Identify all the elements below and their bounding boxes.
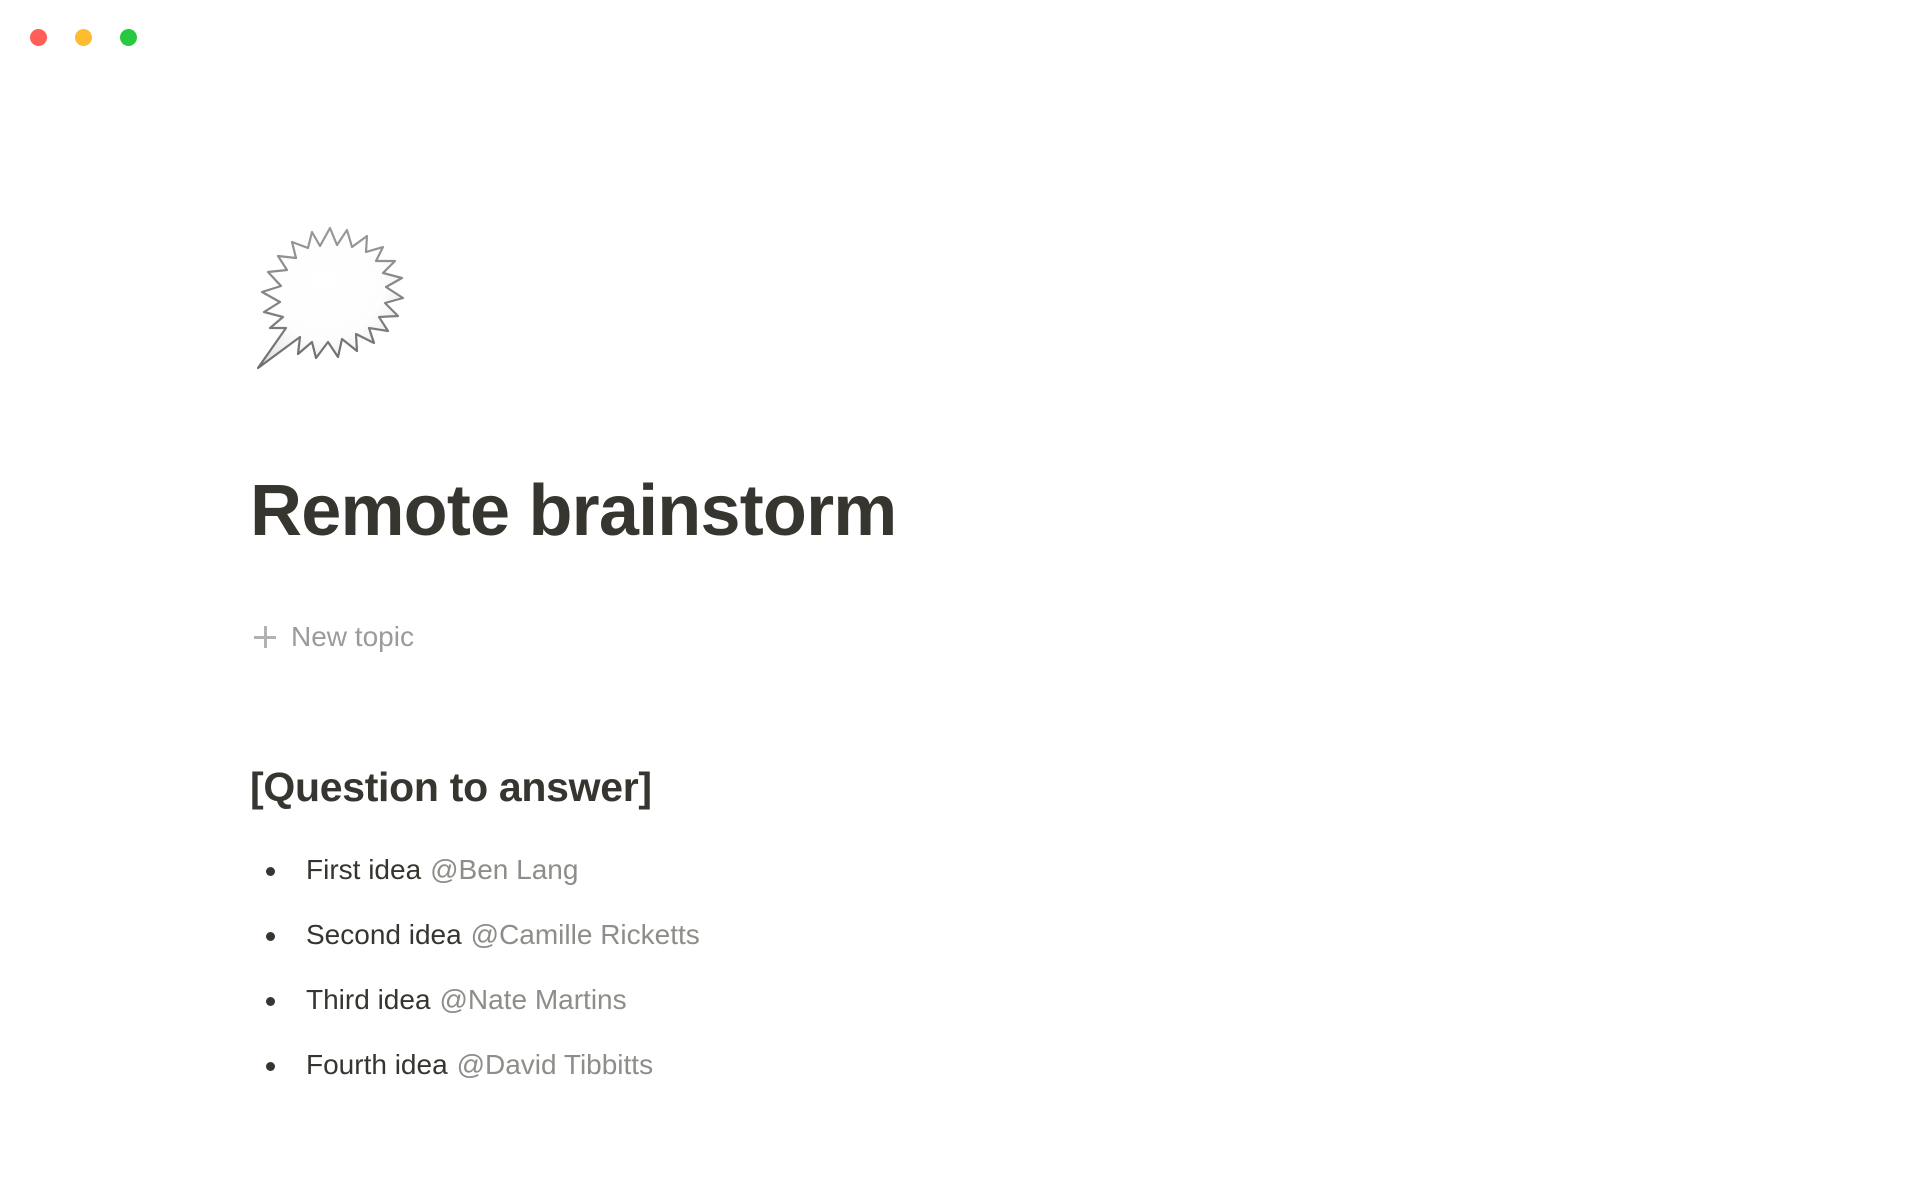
page-title[interactable]: Remote brainstorm	[250, 468, 897, 554]
mention-chip[interactable]: @David Tibbitts	[457, 1047, 654, 1083]
bullet-icon	[266, 1062, 275, 1071]
idea-text: First idea	[306, 852, 421, 888]
section-heading[interactable]: [Question to answer]	[250, 762, 652, 812]
list-item[interactable]: Third idea @Nate Martins	[250, 982, 700, 1047]
mention-chip[interactable]: @Camille Ricketts	[471, 917, 700, 953]
mention-chip[interactable]: @Nate Martins	[439, 982, 626, 1018]
list-item[interactable]: Fourth idea @David Tibbitts	[250, 1047, 700, 1112]
new-topic-label: New topic	[291, 620, 414, 654]
bullet-icon	[266, 997, 275, 1006]
idea-text: Fourth idea	[306, 1047, 448, 1083]
bullet-icon	[266, 932, 275, 941]
right-anger-bubble-icon[interactable]	[250, 218, 410, 378]
document-page: Remote brainstorm New topic [Question to…	[0, 0, 1920, 1200]
idea-text: Second idea	[306, 917, 462, 953]
idea-list: First idea @Ben Lang Second idea @Camill…	[250, 852, 700, 1112]
mention-chip[interactable]: @Ben Lang	[430, 852, 578, 888]
new-topic-button[interactable]: New topic	[254, 620, 414, 654]
list-item[interactable]: Second idea @Camille Ricketts	[250, 917, 700, 982]
idea-text: Third idea	[306, 982, 431, 1018]
bullet-icon	[266, 867, 275, 876]
plus-icon	[254, 626, 276, 648]
list-item[interactable]: First idea @Ben Lang	[250, 852, 700, 917]
